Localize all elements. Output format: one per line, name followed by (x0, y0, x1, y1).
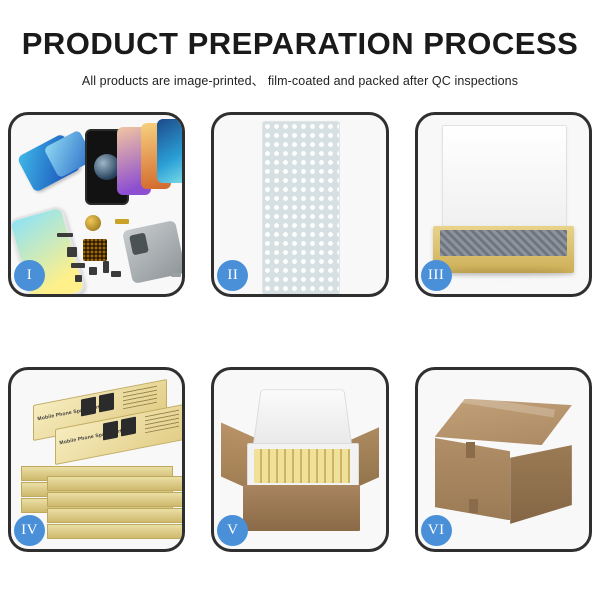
stacked-box-icon (47, 476, 182, 491)
screen-image-icon (81, 397, 96, 417)
small-part-icon (171, 273, 181, 277)
step-badge-1: I (14, 260, 45, 291)
small-part-icon (75, 275, 82, 282)
step-panel-6: VI (415, 367, 592, 552)
screen-image-icon (99, 393, 114, 413)
small-part-icon (111, 271, 121, 277)
small-part-icon (103, 261, 109, 273)
carton-side-icon (510, 445, 572, 524)
styrofoam-lid-icon (253, 390, 353, 447)
stacked-box-icon (47, 492, 182, 507)
step-panel-2: II (211, 112, 388, 297)
stacked-box-icon (47, 524, 182, 539)
small-part-icon (71, 263, 85, 268)
box-shadow-icon (438, 269, 568, 276)
step-badge-4: IV (14, 515, 45, 546)
page-subtitle: All products are image-printed、 film-coa… (0, 70, 600, 89)
small-part-icon (57, 233, 73, 237)
small-part-icon (89, 267, 97, 275)
step-panel-1: I (8, 112, 185, 297)
screen-image-icon (121, 417, 136, 437)
step-panel-5: V (211, 367, 388, 552)
step-panel-4: Mobile Phone Spare Parts Mobile Phone Sp… (8, 367, 185, 552)
yellow-boxes-inside-icon (254, 449, 350, 483)
carton-seam-icon (469, 499, 478, 513)
bubble-wrap-bag-icon (262, 121, 339, 294)
white-foam-lid-icon (442, 125, 567, 234)
page-header: PRODUCT PREPARATION PROCESS All products… (0, 0, 600, 89)
process-steps-grid: I II III (8, 112, 592, 552)
logic-board-icon (83, 239, 107, 261)
small-part-icon (67, 247, 77, 257)
carton-seam-icon (466, 442, 475, 458)
screen-image-icon (103, 421, 118, 441)
stacked-box-icon (47, 508, 182, 523)
page-title: PRODUCT PREPARATION PROCESS (0, 28, 600, 59)
phone-teal-icon (157, 119, 182, 183)
flex-cable-icon (115, 219, 129, 224)
carton-body-icon (243, 485, 360, 532)
step-panel-3: III (415, 112, 592, 297)
step-badge-6: VI (421, 515, 452, 546)
grey-foam-insert-icon (440, 230, 567, 257)
step-badge-3: III (421, 260, 452, 291)
speaker-coil-icon (85, 215, 101, 231)
